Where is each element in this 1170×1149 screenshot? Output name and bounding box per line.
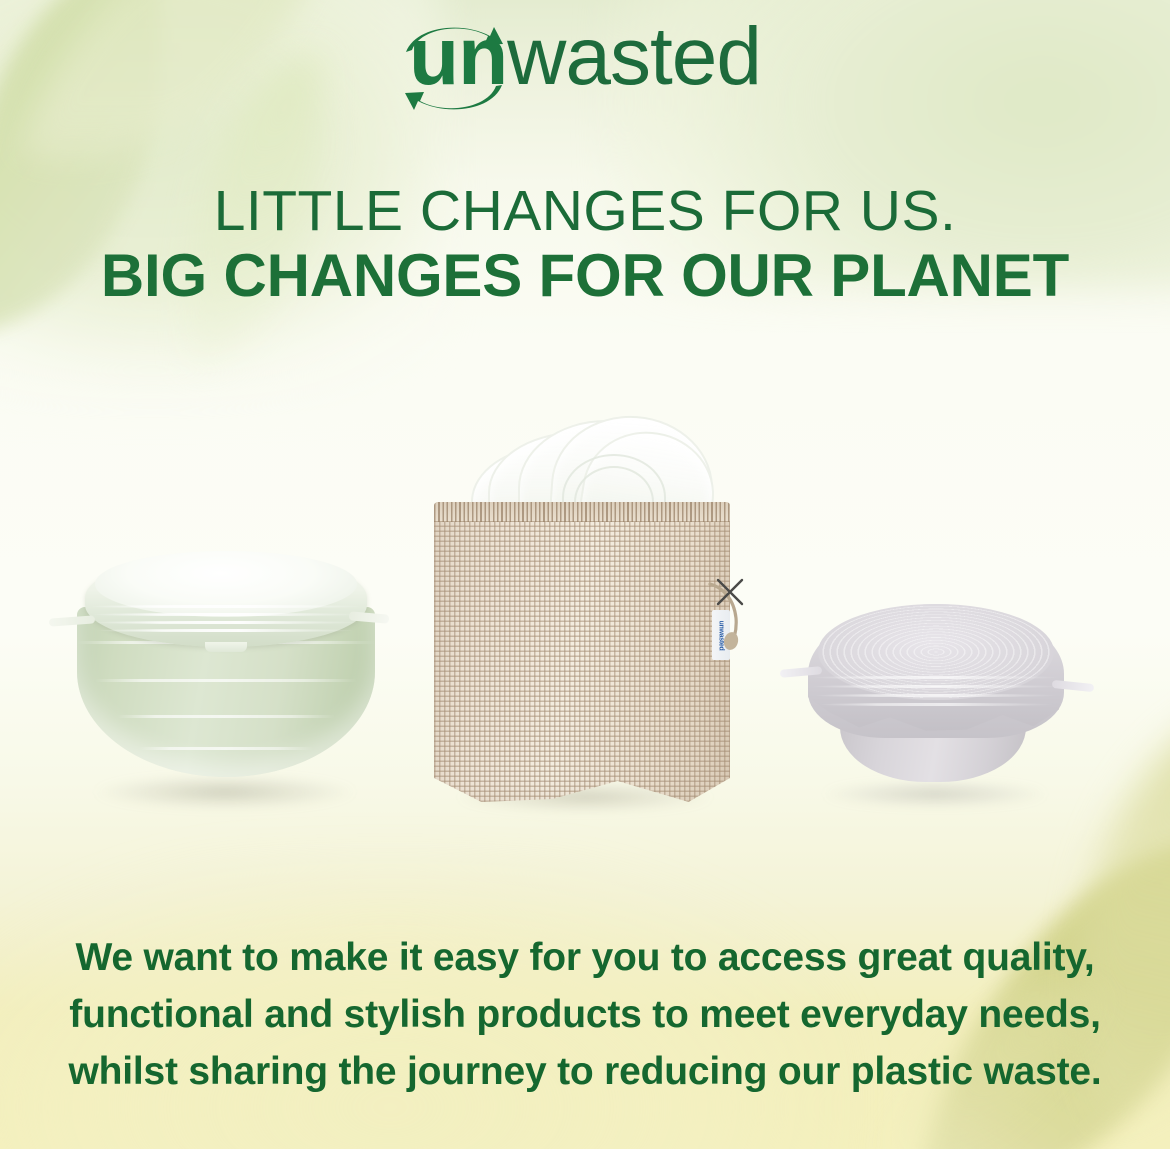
lid-ring [93,621,359,624]
lid-band [818,703,1054,706]
bowl-shadow [95,775,355,809]
product-sage-green-bowl [55,545,395,805]
mission-line-1: We want to make it easy for you to acces… [0,930,1170,987]
bowl-shadow [825,781,1045,807]
headline-line-2: BIG CHANGES FOR OUR PLANET [0,244,1170,309]
lid-ring [89,605,363,608]
lid-ring [97,629,355,632]
lid-pull-tab-center [205,642,247,652]
headline-line-1: LITTLE CHANGES FOR US. [0,182,1170,240]
lid-band [812,685,1060,688]
brand-logo: un wasted [0,8,1170,123]
lid-ring [91,613,361,616]
bowl-rib [139,747,313,750]
mission-statement: We want to make it easy for you to acces… [0,930,1170,1101]
bag-hem [434,502,730,522]
mission-line-3: whilst sharing the journey to reducing o… [0,1044,1170,1101]
product-image-row: unwasted [0,400,1170,850]
product-mesh-bag: unwasted [420,410,760,810]
mission-line-2: functional and stylish products to meet … [0,987,1170,1044]
headline: LITTLE CHANGES FOR US. BIG CHANGES FOR O… [0,182,1170,309]
cotton-mesh-bag [434,502,730,802]
bowl-rib [95,679,357,682]
logo-text-un: un [409,16,507,98]
product-grey-bowl [770,590,1100,805]
bowl-rib [117,715,335,718]
lid-band [812,676,1060,679]
drawstring-cord-icon [708,578,766,652]
logo-text-wasted: wasted [507,16,761,98]
lid-band [814,694,1058,697]
